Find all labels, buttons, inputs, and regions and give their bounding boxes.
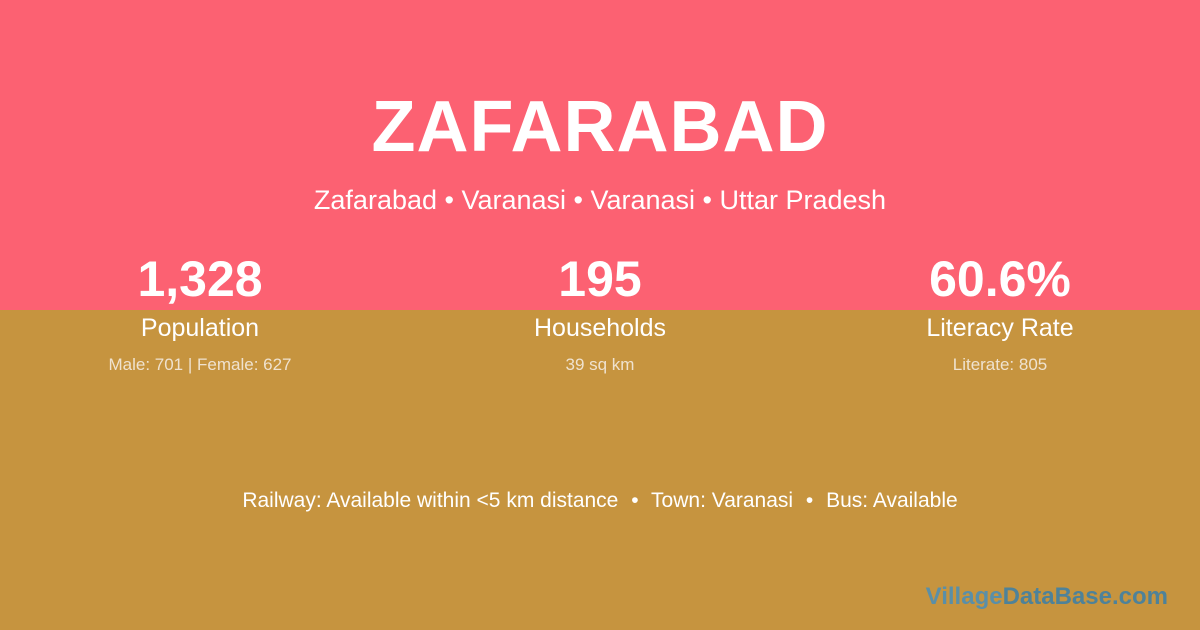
page-title: ZAFARABAD: [0, 82, 1200, 172]
town-info: Town: Varanasi: [651, 489, 793, 512]
stat-label: Households: [400, 312, 800, 344]
railway-info: Railway: Available within <5 km distance: [242, 489, 618, 512]
separator-dot: •: [624, 489, 645, 512]
stat-sublabel: Male: 701 | Female: 627: [0, 353, 400, 377]
site-branding[interactable]: VillageDataBase.com: [926, 582, 1168, 612]
brand-part-village: Village: [926, 583, 1003, 610]
bus-info: Bus: Available: [826, 489, 958, 512]
card-content: ZAFARABAD Zafarabad • Varanasi • Varanas…: [0, 0, 1200, 630]
stat-population: 1,328 Population Male: 701 | Female: 627: [0, 248, 400, 377]
stat-value: 60.6%: [800, 248, 1200, 310]
stat-label: Population: [0, 312, 400, 344]
amenities-summary: Railway: Available within <5 km distance…: [0, 486, 1200, 516]
village-info-card: ZAFARABAD Zafarabad • Varanasi • Varanas…: [0, 0, 1200, 630]
stat-households: 195 Households 39 sq km: [400, 248, 800, 377]
stat-value: 195: [400, 248, 800, 310]
brand-part-database: DataBase.com: [1003, 583, 1168, 610]
stat-value: 1,328: [0, 248, 400, 310]
location-breadcrumb: Zafarabad • Varanasi • Varanasi • Uttar …: [0, 182, 1200, 218]
stat-literacy-rate: 60.6% Literacy Rate Literate: 805: [800, 248, 1200, 377]
stats-row: 1,328 Population Male: 701 | Female: 627…: [0, 248, 1200, 377]
stat-sublabel: Literate: 805: [800, 353, 1200, 377]
stat-sublabel: 39 sq km: [400, 353, 800, 377]
separator-dot: •: [799, 489, 820, 512]
stat-label: Literacy Rate: [800, 312, 1200, 344]
